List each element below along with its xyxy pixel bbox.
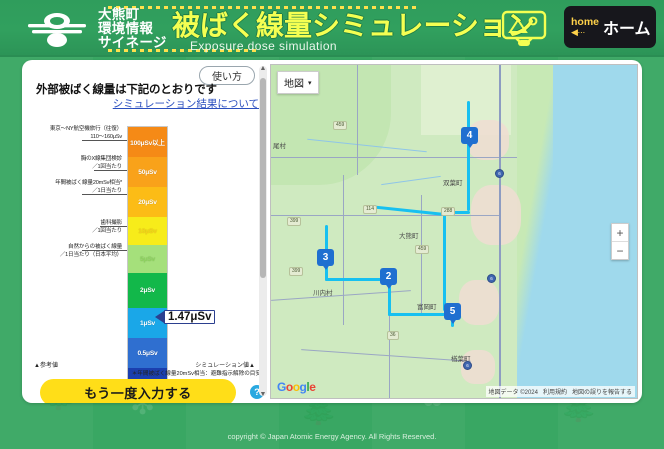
route-marker[interactable]: 3 bbox=[317, 249, 334, 270]
place-label: 双葉町 bbox=[443, 177, 463, 187]
page-subtitle: Exposure dose simulation bbox=[190, 39, 337, 53]
scale-annotation: 東京〜NY航空機旅行（往復） 110〜160μSv bbox=[30, 126, 122, 141]
map-data-credit: 地図データ ©2024 bbox=[489, 387, 538, 396]
scroll-up-icon[interactable]: ▲ bbox=[259, 65, 267, 72]
annotation-leader-line bbox=[100, 226, 127, 227]
annotation-leader-line bbox=[82, 194, 127, 195]
marker-tip bbox=[465, 141, 475, 148]
map-signage-icon bbox=[500, 8, 548, 50]
route-marker[interactable]: 4 bbox=[461, 127, 478, 148]
route-line bbox=[443, 211, 446, 311]
route-marker[interactable]: 5 bbox=[444, 303, 461, 324]
map-coastline bbox=[517, 65, 553, 399]
simulation-result-link[interactable]: シミュレーション結果について bbox=[113, 96, 259, 111]
road-shield: 288 bbox=[441, 207, 455, 216]
map-zoom-controls[interactable]: + − bbox=[611, 223, 629, 260]
panel-scrollbar[interactable]: ▲ ▼ bbox=[259, 66, 267, 396]
marker-tip bbox=[384, 282, 394, 289]
route-line bbox=[467, 101, 470, 211]
map-road bbox=[343, 175, 344, 325]
road-shield: 36 bbox=[387, 331, 399, 340]
place-label: 富岡町 bbox=[417, 301, 437, 311]
map-type-label: 地図 bbox=[284, 75, 304, 90]
google-logo: Google bbox=[277, 380, 315, 394]
marker-tip bbox=[321, 263, 331, 270]
home-button-label-jp: ホーム bbox=[603, 15, 651, 39]
map-road bbox=[271, 215, 501, 216]
scale-annotation: 胸のX線集団検診 ／1回当たり bbox=[44, 156, 122, 171]
zoom-in-button[interactable]: + bbox=[612, 224, 628, 241]
omaru-town-logo-icon bbox=[22, 9, 92, 49]
scale-annotation: 歯科撮影 ／1回当たり bbox=[58, 220, 122, 235]
simulation-note: シミュレーション値▲ bbox=[195, 360, 255, 369]
chevron-down-icon: ▾ bbox=[308, 79, 312, 87]
road-shield: 6 bbox=[495, 169, 504, 178]
scale-annotation: 年間被ばく線量20mSv相当* ／1日当たり bbox=[28, 180, 122, 195]
scale-segment: 2μSv bbox=[128, 273, 167, 308]
road-shield: 6 bbox=[463, 361, 472, 370]
panel-title: 外部被ばく線量は下記のとおりです bbox=[36, 81, 217, 97]
scrollbar-thumb[interactable] bbox=[260, 78, 266, 278]
content-card: 使い方 外部被ばく線量は下記のとおりです シミュレーション結果について 100μ… bbox=[22, 60, 642, 403]
page-title: 被ばく線量シミュレーション bbox=[172, 10, 535, 42]
map-type-button[interactable]: 地図 ▾ bbox=[277, 71, 319, 94]
map-attribution: 地図データ ©2024 利用規約 地図の誤りを報告する bbox=[486, 386, 635, 397]
callout-arrow-icon bbox=[155, 311, 164, 323]
annotation-leader-line bbox=[82, 250, 127, 251]
dose-color-scale: 100μSv以上 50μSv 20μSv 10μSv 5μSv 2μSv 1μS… bbox=[127, 126, 168, 398]
dose-value-callout: 1.47μSv bbox=[155, 310, 215, 324]
home-button[interactable]: home ◀··· ホーム bbox=[564, 6, 656, 48]
scale-segment: 5μSv bbox=[128, 245, 167, 273]
road-shield: 114 bbox=[363, 205, 377, 214]
scroll-down-icon[interactable]: ▼ bbox=[259, 391, 267, 398]
map-road-major bbox=[499, 65, 501, 399]
scale-segment: 100μSv以上 bbox=[128, 127, 167, 157]
map-road bbox=[357, 65, 358, 175]
road-shield: 399 bbox=[289, 267, 303, 276]
dose-value: 1.47μSv bbox=[164, 310, 215, 324]
scale-segment: 20μSv bbox=[128, 187, 167, 217]
app-header: 大熊町 環境情報 サイネージ 被ばく線量シミュレーション Exposure do… bbox=[0, 0, 664, 57]
speaker-icon: ◀··· bbox=[571, 28, 599, 37]
map-road bbox=[389, 315, 390, 399]
marker-tip bbox=[448, 317, 458, 324]
scale-segment: 50μSv bbox=[128, 157, 167, 187]
place-label: 川内村 bbox=[313, 287, 333, 297]
road-shield: 459 bbox=[415, 245, 429, 254]
annotation-leader-line bbox=[94, 170, 127, 171]
scale-annotation: 自然からの被ばく線量 ／1日当たり（日本平均） bbox=[28, 244, 122, 259]
road-shield: 399 bbox=[287, 217, 301, 226]
annotation-leader-line bbox=[82, 140, 127, 141]
map-view[interactable]: 尾村 双葉町 大熊町 川内村 富岡町 楢葉町 459 6 288 114 399… bbox=[270, 64, 638, 399]
road-shield: 459 bbox=[333, 121, 347, 130]
scale-segment: 10μSv bbox=[128, 217, 167, 245]
road-shield: 6 bbox=[487, 274, 496, 283]
map-road bbox=[271, 157, 517, 158]
re-enter-button[interactable]: もう一度入力する bbox=[40, 379, 236, 403]
route-marker[interactable]: 2 bbox=[380, 268, 397, 289]
scale-segment: 0.5μSv bbox=[128, 338, 167, 368]
copyright-text: copyright © Japan Atomic Energy Agency. … bbox=[0, 432, 664, 441]
zoom-out-button[interactable]: − bbox=[612, 242, 628, 259]
terms-link[interactable]: 利用規約 bbox=[543, 387, 567, 396]
map-urban-area bbox=[459, 280, 499, 325]
place-label: 大熊町 bbox=[399, 230, 419, 240]
footnote: ＊年間被ばく線量20mSv相当：避難指示解除の目安 bbox=[132, 369, 261, 377]
reference-note: ▲参考値 bbox=[34, 360, 58, 369]
dose-scale-panel: 使い方 外部被ばく線量は下記のとおりです シミュレーション結果について 100μ… bbox=[22, 60, 267, 403]
place-label: 尾村 bbox=[273, 140, 286, 150]
report-error-link[interactable]: 地図の誤りを報告する bbox=[572, 387, 632, 396]
